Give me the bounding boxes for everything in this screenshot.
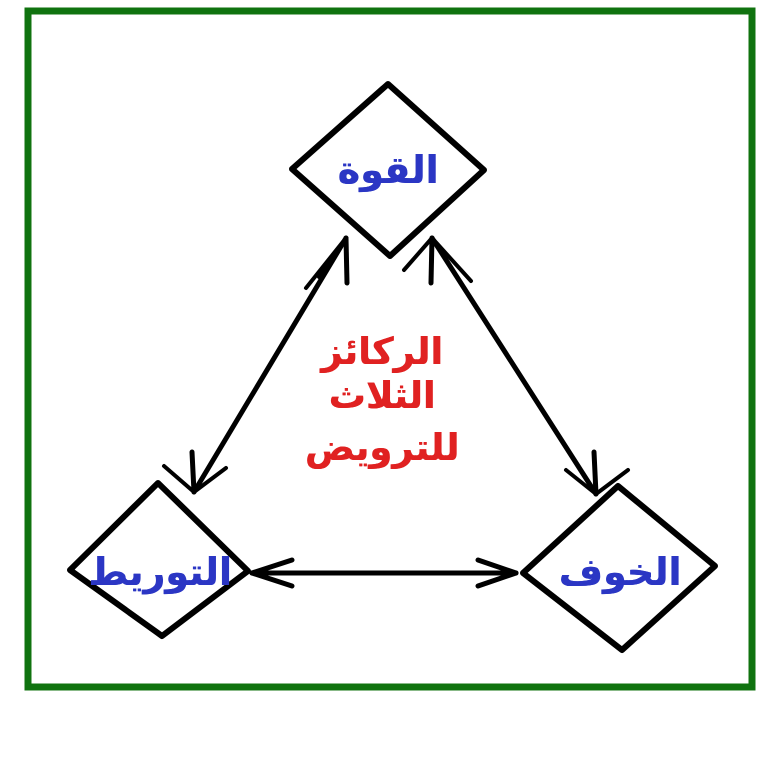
center-caption-line-2: الثلاث <box>305 374 460 418</box>
center-caption-line-1: الركائز <box>305 330 460 374</box>
center-caption-line-3: للترويض <box>305 426 460 470</box>
node-label-fear: الخوف <box>559 553 682 591</box>
node-label-power: القوة <box>338 151 439 189</box>
node-label-entrapment: التوريط <box>88 553 231 591</box>
connector-entrapment-fear[interactable] <box>252 560 516 586</box>
center-caption: الركائز الثلاث للترويض <box>305 330 460 470</box>
diagram-canvas: القوة التوريط الخوف الركائز الثلاث للترو… <box>0 0 759 762</box>
